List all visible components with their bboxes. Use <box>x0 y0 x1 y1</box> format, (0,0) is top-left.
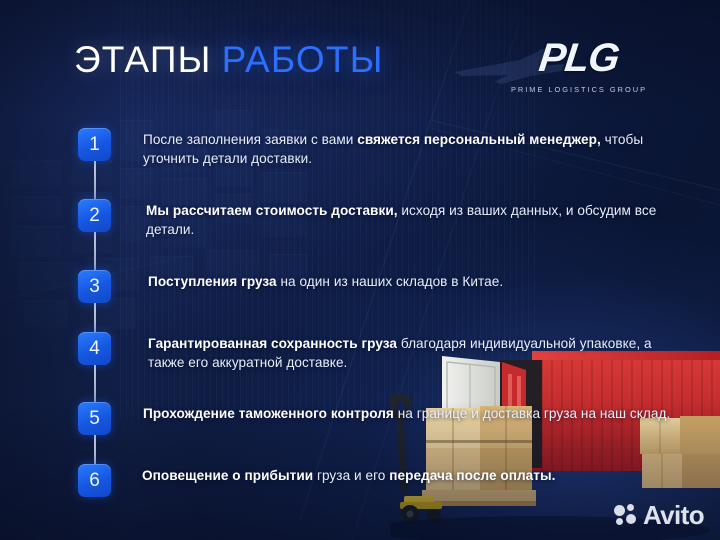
step-badge-column: 2 <box>78 199 138 232</box>
step-description: Прохождение таможенного контроля на гран… <box>141 402 670 423</box>
step-text-bold: передача после оплаты. <box>389 468 555 483</box>
step-number-badge: 2 <box>78 199 111 232</box>
step-badge-column: 5 <box>78 402 138 435</box>
step-item: 2Мы рассчитаем стоимость доставки, исход… <box>78 199 678 240</box>
page-title: ЭТАПЫРАБОТЫ <box>74 41 384 78</box>
step-badge-column: 3 <box>78 270 138 303</box>
step-item: 6Оповещение о прибытии груза и его перед… <box>78 464 678 498</box>
step-number-badge: 4 <box>78 332 111 365</box>
step-text-bold: свяжется персональный менеджер, <box>357 132 601 147</box>
steps-list: 1После заполнения заявки с вами свяжется… <box>78 128 678 498</box>
step-item: 1После заполнения заявки с вами свяжется… <box>78 128 678 169</box>
step-text-bold: Оповещение о прибытии <box>142 468 313 483</box>
step-text-normal: на границе и доставка груза на наш склад… <box>394 406 670 421</box>
step-text-bold: Мы рассчитаем стоимость доставки, <box>146 203 398 218</box>
avito-dots-icon <box>614 504 638 526</box>
step-item: 5Прохождение таможенного контроля на гра… <box>78 402 678 436</box>
step-text-bold: Поступления груза <box>148 274 277 289</box>
step-description: Мы рассчитаем стоимость доставки, исходя… <box>144 199 678 240</box>
step-text-bold: Гарантированная сохранность груза <box>148 336 397 351</box>
step-item: 4Гарантированная сохранность груза благо… <box>78 332 678 373</box>
page-title-word-1: ЭТАПЫ <box>74 39 212 80</box>
step-number-badge: 3 <box>78 270 111 303</box>
step-description: После заполнения заявки с вами свяжется … <box>141 128 678 169</box>
brand-logo: PLG PRIME LOGISTICS GROUP <box>504 38 654 94</box>
step-badge-column: 6 <box>78 464 138 497</box>
step-text-normal: на один из наших складов в Китае. <box>277 274 504 289</box>
step-text-normal: груза и его <box>313 468 389 483</box>
step-number-badge: 5 <box>78 402 111 435</box>
step-item: 3Поступления груза на один из наших скла… <box>78 270 678 304</box>
step-badge-column: 1 <box>78 128 138 161</box>
step-description: Гарантированная сохранность груза благод… <box>146 332 678 373</box>
promo-poster: ЭТАПЫРАБОТЫ PLG PRIME LOGISTICS GROUP 1П… <box>0 0 720 540</box>
step-description: Поступления груза на один из наших склад… <box>146 270 503 291</box>
step-description: Оповещение о прибытии груза и его переда… <box>140 464 556 485</box>
step-text-normal: После заполнения заявки с вами <box>143 132 357 147</box>
step-badge-column: 4 <box>78 332 138 365</box>
avito-watermark: Avito <box>614 502 704 528</box>
step-text-bold: Прохождение таможенного контроля <box>143 406 394 421</box>
avito-brand-text: Avito <box>643 502 704 528</box>
page-title-word-2: РАБОТЫ <box>222 39 384 80</box>
step-number-badge: 6 <box>78 464 111 497</box>
logo-subtitle: PRIME LOGISTICS GROUP <box>504 85 654 94</box>
step-number-badge: 1 <box>78 128 111 161</box>
logo-mark-text: PLG <box>502 38 657 78</box>
